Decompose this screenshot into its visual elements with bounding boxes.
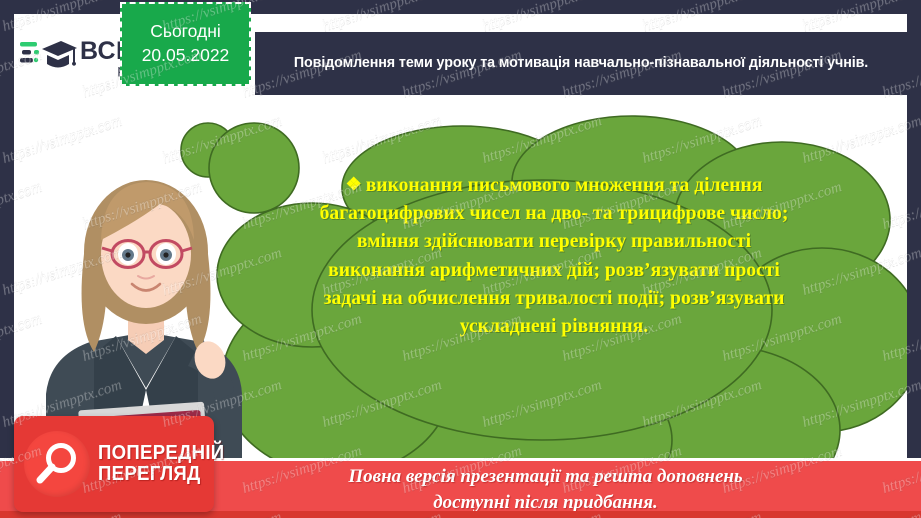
footer-text-line2: доступні після придбання. xyxy=(348,490,742,515)
date-badge: Сьогодні 20.05.2022 xyxy=(120,2,251,86)
preview-badge[interactable]: ПОПЕРЕДНІЙ ПЕРЕГЛЯД xyxy=(14,416,214,512)
header-title: Повідомлення теми уроку та мотивація нав… xyxy=(294,53,868,73)
diamond-bullet-icon: ❖ xyxy=(346,174,362,194)
magnifier-icon xyxy=(24,431,90,497)
date-badge-value: 20.05.2022 xyxy=(142,45,230,67)
preview-badge-line2: ПЕРЕГЛЯД xyxy=(98,464,224,485)
cloud-body-text: ❖виконання письмового множення та діленн… xyxy=(314,172,794,341)
cloud-body-text-value: виконання письмового множення та ділення… xyxy=(320,175,789,337)
date-badge-label: Сьогодні xyxy=(150,21,221,43)
header-bar: Повідомлення теми уроку та мотивація нав… xyxy=(255,32,907,95)
preview-badge-line1: ПОПЕРЕДНІЙ xyxy=(98,443,224,464)
graduation-cap-icon xyxy=(20,36,78,81)
footer-text: Повна версія презентації та решта доповн… xyxy=(178,464,742,515)
preview-badge-label: ПОПЕРЕДНІЙ ПЕРЕГЛЯД xyxy=(98,443,234,485)
footer-text-line1: Повна версія презентації та решта доповн… xyxy=(348,464,742,489)
brand-logo: ВСІМ pptx xyxy=(14,32,132,84)
slide-root: ❖виконання письмового множення та діленн… xyxy=(0,0,921,518)
